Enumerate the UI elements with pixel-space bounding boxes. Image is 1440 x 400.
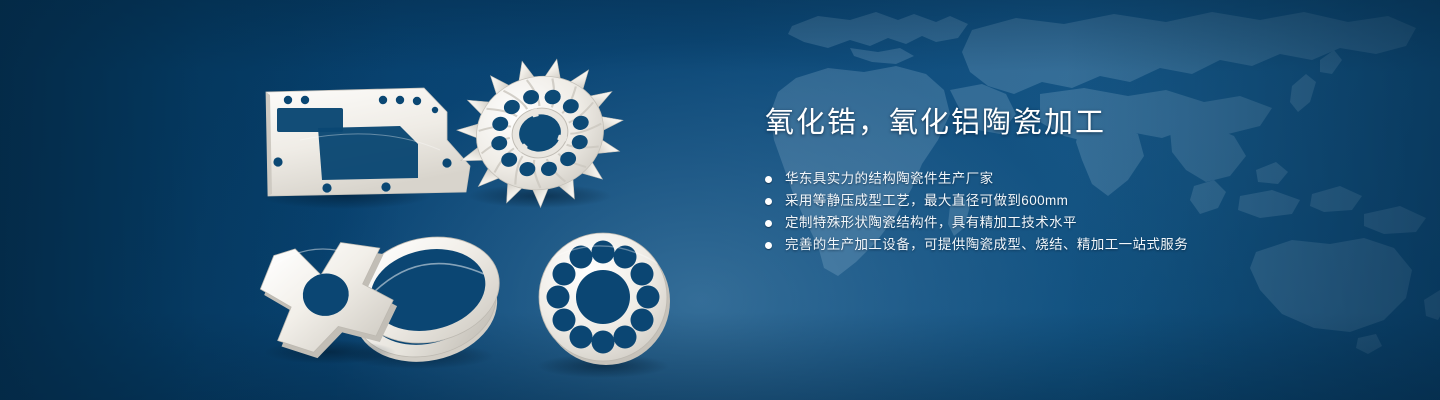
ceramic-perforated-disc-part — [537, 233, 670, 378]
list-item: 完善的生产加工设备，可提供陶瓷成型、烧结、精加工一站式服务 — [765, 234, 1325, 256]
list-item: 采用等静压成型工艺，最大直径可做到600mm — [765, 190, 1325, 212]
banner-text-column: 氧化锆，氧化铝陶瓷加工 华东具实力的结构陶瓷件生产厂家 采用等静压成型工艺，最大… — [765, 106, 1325, 256]
ceramic-plate-part — [259, 88, 470, 209]
list-item-label: 采用等静压成型工艺，最大直径可做到600mm — [785, 190, 1068, 212]
list-item-label: 完善的生产加工设备，可提供陶瓷成型、烧结、精加工一站式服务 — [785, 234, 1188, 256]
bullet-dot-icon — [765, 176, 772, 183]
product-collage — [0, 0, 720, 400]
ceramic-impeller-part — [440, 41, 640, 225]
ceramic-cross-part — [255, 236, 402, 365]
bullet-dot-icon — [765, 220, 772, 227]
list-item-label: 华东具实力的结构陶瓷件生产厂家 — [785, 168, 994, 190]
feature-list: 华东具实力的结构陶瓷件生产厂家 采用等静压成型工艺，最大直径可做到600mm 定… — [765, 168, 1325, 256]
list-item: 定制特殊形状陶瓷结构件，具有精加工技术水平 — [765, 212, 1325, 234]
bullet-dot-icon — [765, 242, 772, 249]
hero-banner: 氧化锆，氧化铝陶瓷加工 华东具实力的结构陶瓷件生产厂家 采用等静压成型工艺，最大… — [0, 0, 1440, 400]
list-item: 华东具实力的结构陶瓷件生产厂家 — [765, 168, 1325, 190]
list-item-label: 定制特殊形状陶瓷结构件，具有精加工技术水平 — [785, 212, 1077, 234]
page-title: 氧化锆，氧化铝陶瓷加工 — [765, 106, 1325, 140]
bullet-dot-icon — [765, 198, 772, 205]
